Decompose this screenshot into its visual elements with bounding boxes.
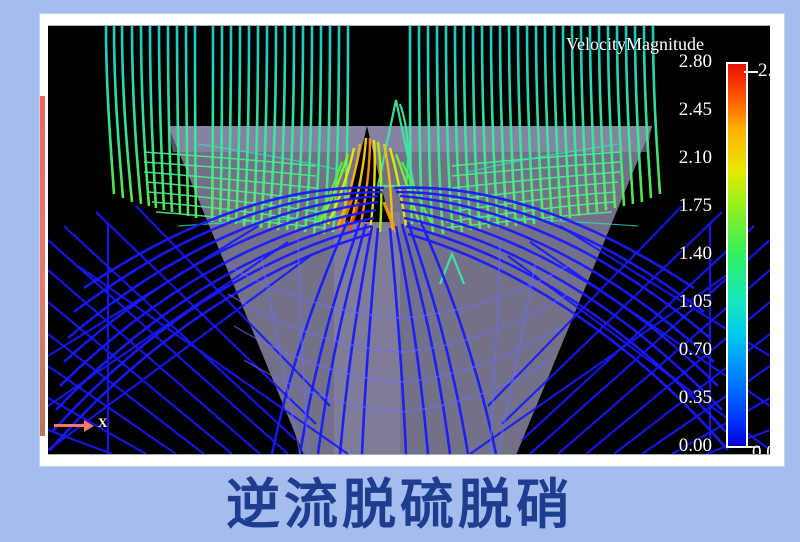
- cfd-viewport: X VelocityMagnitude 2.80 2.45 2.10 1.75 …: [48, 26, 770, 454]
- axis-indicator: X: [54, 412, 124, 442]
- slide-root: X VelocityMagnitude 2.80 2.45 2.10 1.75 …: [0, 0, 800, 542]
- x-axis-label: X: [98, 415, 107, 431]
- left-axis-strip: [40, 96, 45, 436]
- x-axis-arrow-shaft: [54, 424, 88, 427]
- x-axis-arrow-head: [84, 420, 94, 432]
- slide-caption: 逆流脱硫脱硝: [0, 474, 800, 536]
- droplet-fan-streamlines: [48, 26, 770, 454]
